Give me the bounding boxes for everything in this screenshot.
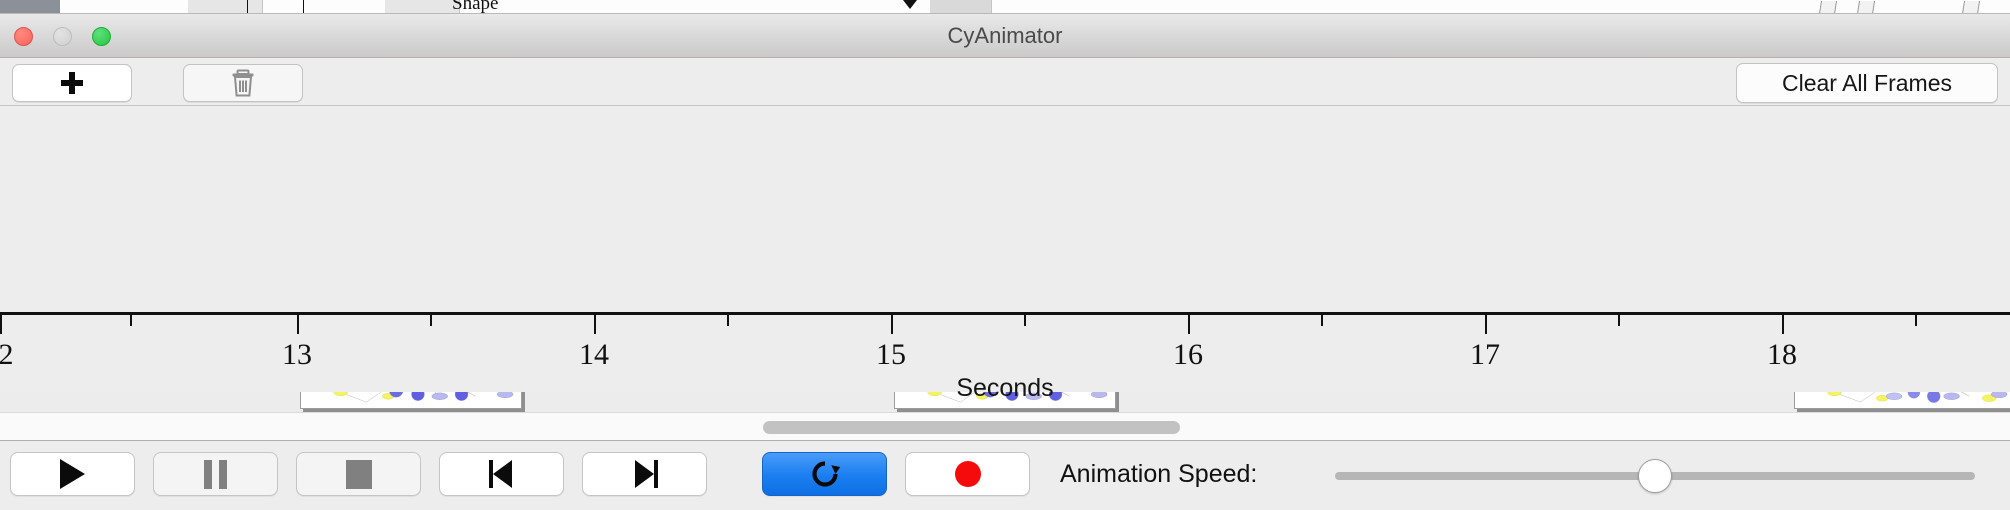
axis-tick-minor [1024, 315, 1026, 326]
background-segment [1962, 1, 1980, 14]
stop-button[interactable] [296, 452, 421, 496]
axis-tick-minor [1321, 315, 1323, 326]
plus-icon [61, 72, 83, 94]
background-marker-icon [903, 0, 917, 9]
clear-all-frames-button[interactable]: Clear All Frames [1736, 63, 1998, 103]
trash-icon [230, 68, 256, 98]
axis-tick-label: 14 [579, 338, 609, 372]
axis-tick-minor [430, 315, 432, 326]
background-segment [1857, 1, 1875, 14]
scrollbar-thumb[interactable] [763, 421, 1180, 434]
window-title: CyAnimator [0, 14, 2010, 58]
timeline-track[interactable]: MCM1 [0, 106, 2010, 312]
background-segment [1819, 1, 1837, 14]
record-icon [955, 461, 981, 487]
loop-button[interactable] [762, 452, 887, 496]
animation-speed-slider[interactable] [1335, 472, 1975, 480]
loop-icon [809, 458, 841, 490]
pause-icon [204, 460, 227, 489]
toolbar: Clear All Frames [0, 58, 2010, 106]
timeline-axis: 2 13 14 15 16 17 18 Seconds [0, 312, 2010, 392]
axis-tick-label: 13 [282, 338, 312, 372]
add-frame-button[interactable] [12, 64, 132, 102]
skip-to-start-button[interactable] [439, 452, 564, 496]
axis-title: Seconds [0, 374, 2010, 403]
animation-speed-slider-knob[interactable] [1638, 459, 1672, 493]
axis-tick-minor [1618, 315, 1620, 326]
skip-to-end-button[interactable] [582, 452, 707, 496]
timeline-scrollbar[interactable] [0, 412, 2010, 441]
background-selected-tab [0, 0, 60, 14]
background-segment [385, 0, 460, 14]
axis-line [0, 312, 2010, 315]
axis-tick-major [891, 315, 893, 334]
axis-tick-label: 18 [1767, 338, 1797, 372]
axis-tick-major [594, 315, 596, 334]
skip-to-end-icon [632, 460, 658, 488]
background-segment [188, 0, 263, 14]
background-window-label: Shape [452, 0, 498, 14]
axis-tick-major [1188, 315, 1190, 334]
axis-tick-major [0, 315, 2, 334]
axis-tick-minor [1915, 315, 1917, 326]
background-tick [247, 0, 248, 14]
background-segment [930, 0, 992, 14]
pause-button[interactable] [153, 452, 278, 496]
play-icon [60, 459, 85, 489]
axis-tick-label: 2 [0, 338, 14, 372]
title-bar: CyAnimator [0, 14, 2010, 58]
background-window-strip: Shape [0, 0, 2010, 14]
axis-tick-major [1485, 315, 1487, 334]
axis-tick-major [1782, 315, 1784, 334]
skip-to-start-icon [489, 460, 515, 488]
axis-tick-label: 15 [876, 338, 906, 372]
playback-toolbar: Animation Speed: [0, 442, 2010, 510]
play-button[interactable] [10, 452, 135, 496]
background-tick [303, 0, 304, 14]
delete-frame-button[interactable] [183, 64, 303, 102]
axis-tick-minor [727, 315, 729, 326]
axis-tick-minor [130, 315, 132, 326]
record-button[interactable] [905, 452, 1030, 496]
axis-tick-major [297, 315, 299, 334]
axis-tick-label: 16 [1173, 338, 1203, 372]
stop-icon [346, 460, 372, 489]
axis-tick-label: 17 [1470, 338, 1500, 372]
animation-speed-label: Animation Speed: [1060, 452, 1257, 496]
